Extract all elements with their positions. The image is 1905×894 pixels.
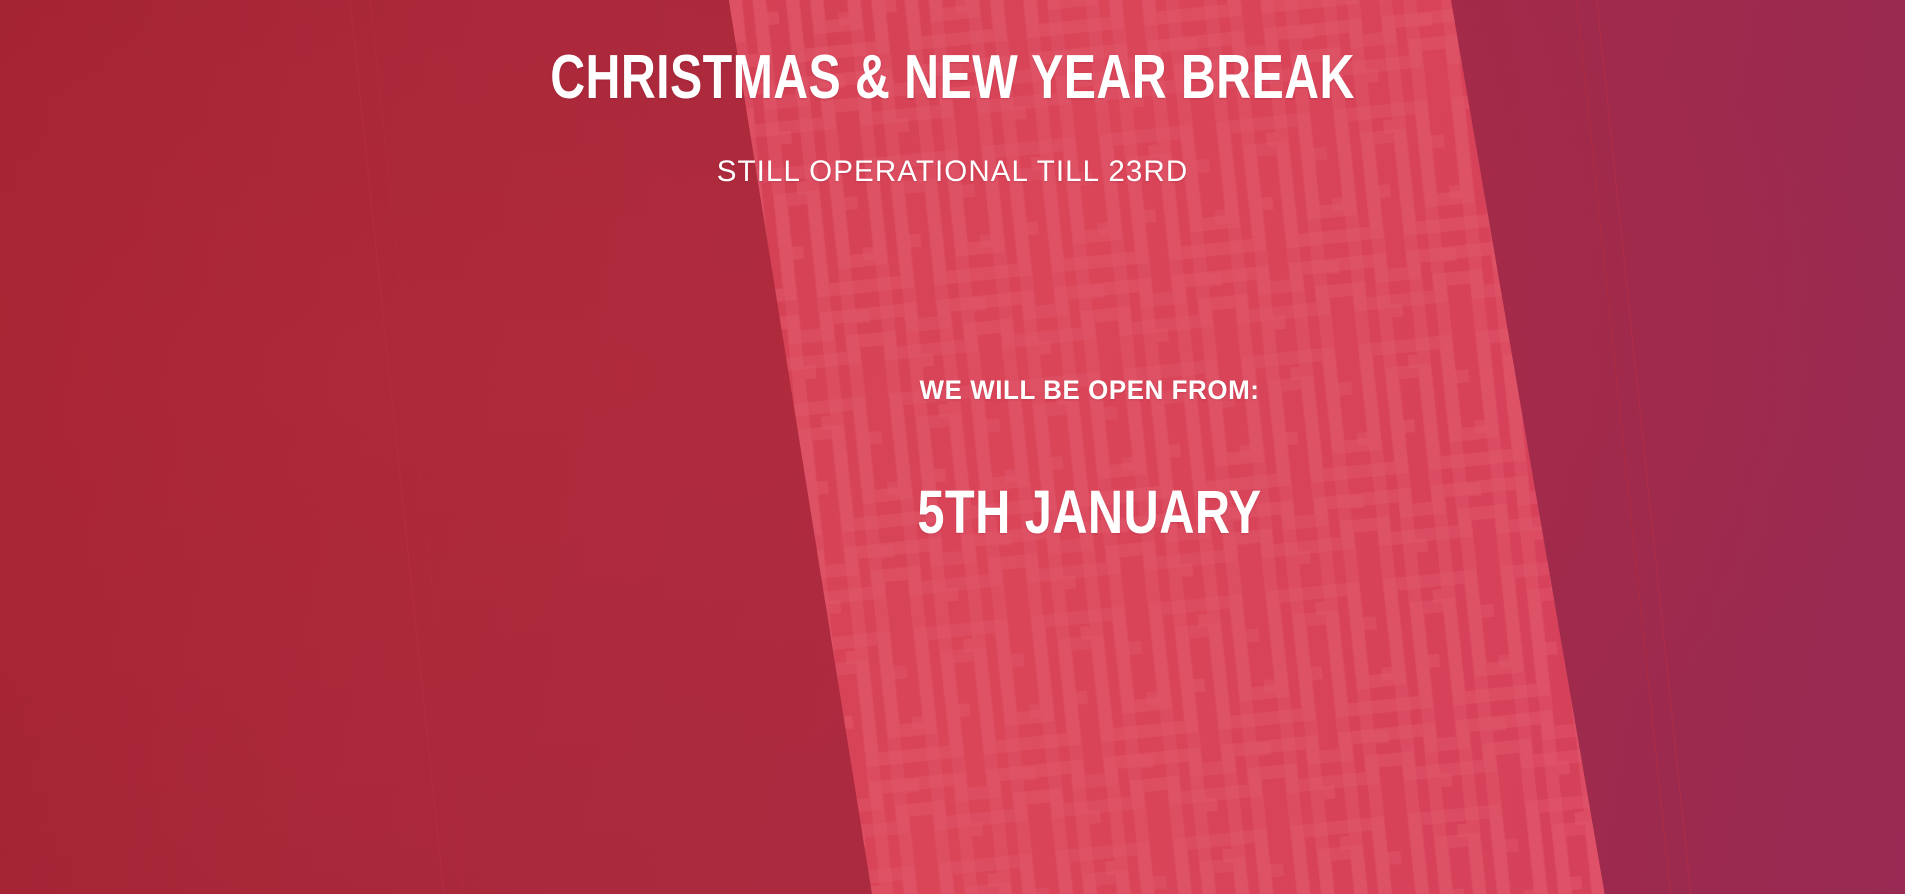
open-from-label: WE WILL BE OPEN FROM: (175, 377, 1905, 404)
banner-subtitle: STILL OPERATIONAL TILL 23RD (14, 157, 1890, 187)
banner-text-layer: CHRISTMAS & NEW YEAR BREAK STILL OPERATI… (0, 0, 1905, 894)
christmas-break-banner: CHRISTMAS & NEW YEAR BREAK STILL OPERATI… (0, 0, 1905, 894)
banner-headline: CHRISTMAS & NEW YEAR BREAK (210, 47, 1696, 109)
reopen-date: 5TH JANUARY (328, 482, 1852, 543)
